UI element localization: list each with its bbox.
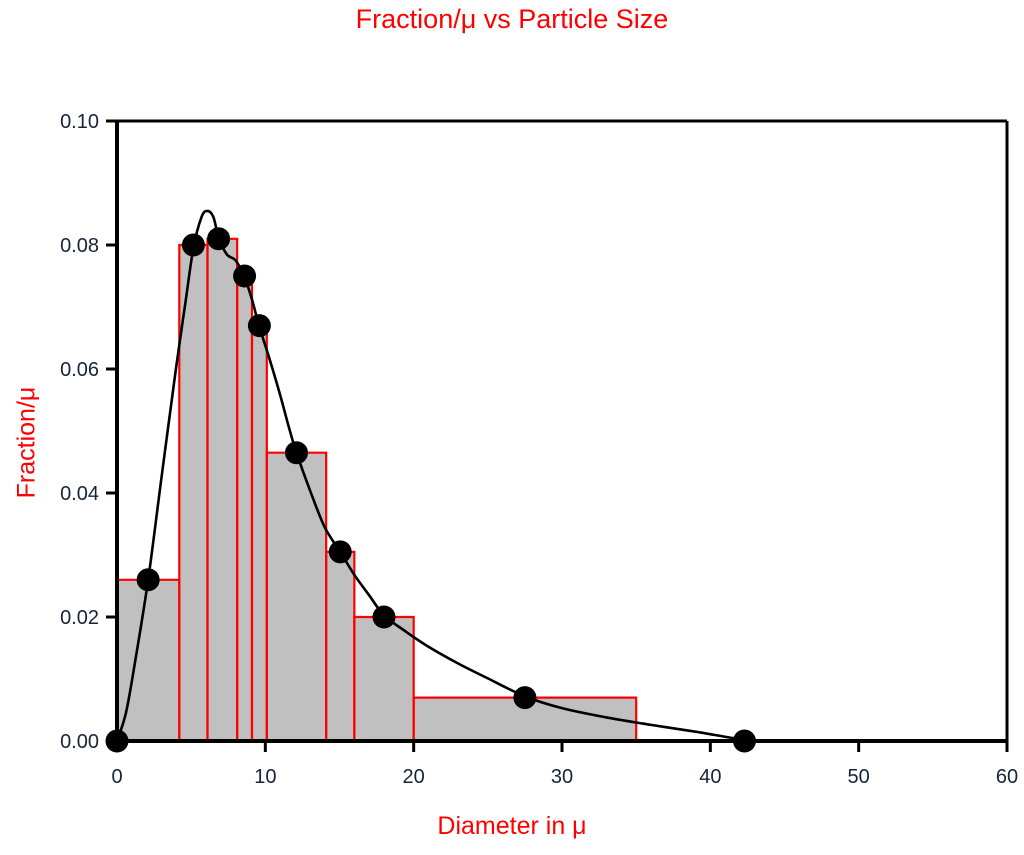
data-point-marker: [137, 568, 160, 591]
x-axis-tick-label: 40: [699, 766, 721, 788]
y-axis-label: Fraction/μ: [13, 233, 42, 653]
data-point-marker: [285, 441, 308, 464]
data-point-marker: [182, 234, 205, 257]
data-point-marker: [373, 606, 396, 629]
histogram-bar: [207, 239, 237, 741]
chart-figure: Fraction/μ vs Particle Size 010203040506…: [0, 0, 1024, 855]
data-point-marker: [248, 314, 271, 337]
x-axis-tick-label: 20: [403, 766, 425, 788]
data-point-marker: [207, 227, 230, 250]
histogram-bar: [252, 326, 267, 741]
histogram-bars: [117, 239, 859, 741]
y-axis-tick-label: 0.08: [60, 235, 99, 257]
chart-plot-area: 01020304050600.000.020.040.060.080.10: [0, 0, 1024, 855]
histogram-bar: [267, 453, 326, 741]
histogram-bar: [326, 552, 354, 741]
y-axis-tick-label: 0.06: [60, 359, 99, 381]
histogram-bar: [117, 580, 179, 741]
histogram-bar: [237, 276, 252, 741]
x-axis-label: Diameter in μ: [0, 812, 1024, 841]
x-axis-tick-label: 10: [254, 766, 276, 788]
data-point-marker: [233, 265, 256, 288]
y-axis-tick-label: 0.02: [60, 607, 99, 629]
y-axis-tick-label: 0.00: [60, 731, 99, 753]
data-point-marker: [513, 686, 536, 709]
x-axis-tick-label: 30: [551, 766, 573, 788]
x-axis-tick-label: 60: [996, 766, 1018, 788]
y-axis-tick-label: 0.10: [60, 111, 99, 133]
x-axis-tick-label: 0: [111, 766, 122, 788]
x-axis-tick-label: 50: [848, 766, 870, 788]
histogram-bar: [354, 617, 413, 741]
data-point-marker: [329, 540, 352, 563]
y-axis-tick-label: 0.04: [60, 483, 99, 505]
